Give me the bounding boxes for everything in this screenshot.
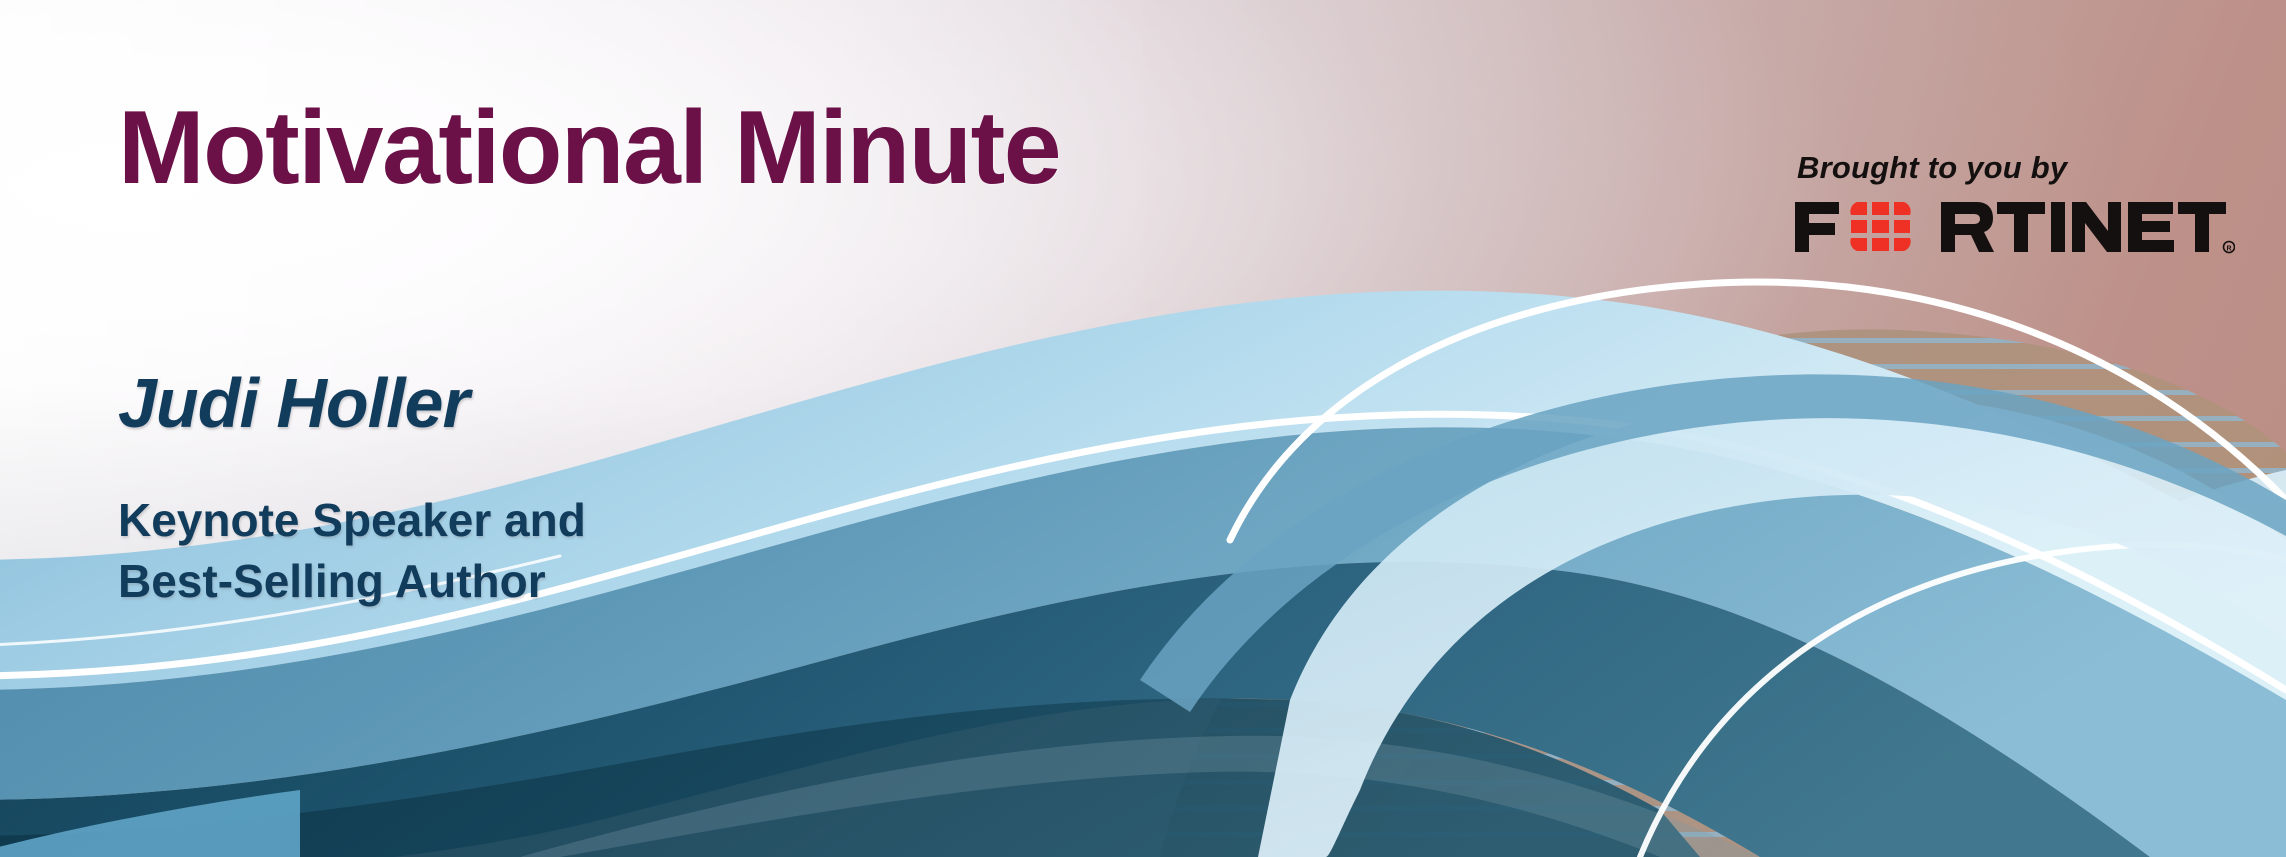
fortinet-logo: R [1795,198,2235,256]
fortinet-wordmark-icon: R [1795,198,2235,256]
headline-block: Motivational Minute [118,96,1060,200]
registered-trademark-icon: R [2224,242,2235,253]
svg-text:R: R [2226,245,2231,252]
page-title: Motivational Minute [118,96,1060,200]
speaker-role: Keynote Speaker and Best-Selling Author [118,490,586,611]
speaker-name: Judi Holler [118,368,469,438]
speaker-role-line-2: Best-Selling Author [118,551,586,612]
sponsor-tagline: Brought to you by [1797,150,2235,186]
fortinet-red-o-icon [1850,202,1910,251]
sponsor-lockup: Brought to you by [1795,150,2235,256]
speaker-role-line-1: Keynote Speaker and [118,490,586,551]
motivational-minute-banner: Motivational Minute Judi Holler Keynote … [0,0,2286,857]
